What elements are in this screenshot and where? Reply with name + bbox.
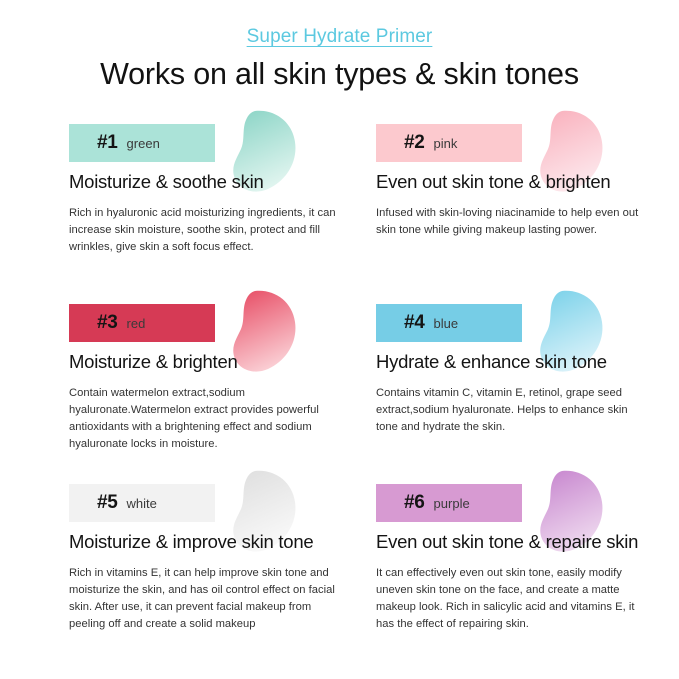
product-card-3: #3 red Moisturize & brighten Contain wat…	[69, 289, 354, 469]
variant-color-name: red	[127, 316, 146, 331]
page-title: Works on all skin types & skin tones	[0, 57, 679, 91]
product-line-subtitle: Super Hydrate Primer	[247, 26, 433, 48]
variant-benefit-heading: Moisturize & brighten	[69, 351, 238, 373]
variant-number: #4	[404, 312, 425, 334]
variant-color-name: purple	[434, 496, 470, 511]
variant-label-bar: #2 pink	[376, 124, 522, 162]
variant-benefit-heading: Moisturize & soothe skin	[69, 171, 264, 193]
variant-description: Rich in hyaluronic acid moisturizing ing…	[69, 205, 341, 256]
variant-benefit-heading: Even out skin tone & brighten	[376, 171, 610, 193]
variant-description: Contains vitamin C, vitamin E, retinol, …	[376, 385, 648, 436]
variant-number: #5	[97, 492, 118, 514]
variant-label-bar: #4 blue	[376, 304, 522, 342]
product-card-5: #5 white Moisturize & improve skin tone …	[69, 469, 354, 659]
product-card-6: #6 purple Even out skin tone & repaire s…	[376, 469, 661, 659]
variant-number: #1	[97, 132, 118, 154]
variant-benefit-heading: Moisturize & improve skin tone	[69, 531, 313, 553]
product-card-2: #2 pink Even out skin tone & brighten In…	[376, 109, 661, 289]
variant-number: #6	[404, 492, 425, 514]
variant-benefit-heading: Hydrate & enhance skin tone	[376, 351, 607, 373]
variant-description: Rich in vitamins E, it can help improve …	[69, 565, 341, 633]
page-header: Super Hydrate Primer Works on all skin t…	[0, 0, 679, 91]
product-variant-grid: #1 green Moisturize & soothe skin Rich i…	[0, 109, 679, 659]
variant-label-bar: #6 purple	[376, 484, 522, 522]
variant-color-name: green	[127, 136, 160, 151]
variant-description: Infused with skin-loving niacinamide to …	[376, 205, 648, 239]
variant-description: It can effectively even out skin tone, e…	[376, 565, 648, 633]
product-card-1: #1 green Moisturize & soothe skin Rich i…	[69, 109, 354, 289]
variant-number: #3	[97, 312, 118, 334]
variant-label-bar: #5 white	[69, 484, 215, 522]
product-card-4: #4 blue Hydrate & enhance skin tone Cont…	[376, 289, 661, 469]
variant-color-name: blue	[434, 316, 459, 331]
variant-benefit-heading: Even out skin tone & repaire skin	[376, 531, 638, 553]
variant-color-name: white	[127, 496, 157, 511]
variant-label-bar: #1 green	[69, 124, 215, 162]
variant-description: Contain watermelon extract,sodium hyalur…	[69, 385, 341, 453]
infographic-page: Super Hydrate Primer Works on all skin t…	[0, 0, 679, 679]
variant-number: #2	[404, 132, 425, 154]
variant-label-bar: #3 red	[69, 304, 215, 342]
variant-color-name: pink	[434, 136, 458, 151]
